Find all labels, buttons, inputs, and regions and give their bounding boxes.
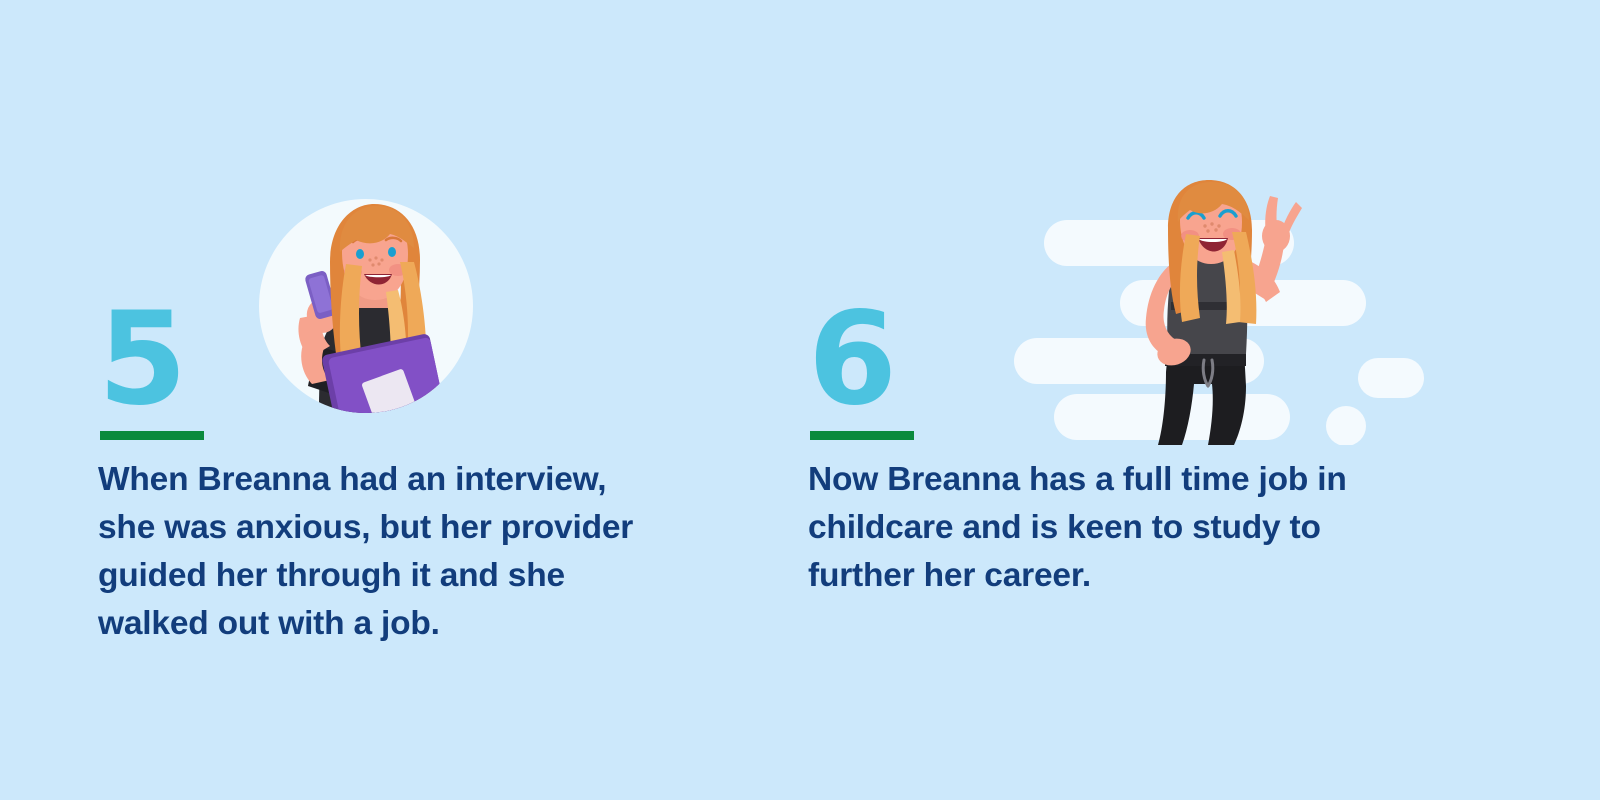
step-panel-5: 5 When Breanna had an interview, she was… bbox=[98, 0, 808, 800]
step-number-5: 5 bbox=[98, 296, 185, 424]
copy-line: further her career. bbox=[808, 552, 1448, 600]
copy-line: Now Breanna has a full time job in bbox=[808, 456, 1448, 504]
copy-line: guided her through it and she bbox=[98, 552, 738, 600]
step-panel-6: 6 Now Breanna has a full time job in chi… bbox=[808, 0, 1518, 800]
step-rule-6 bbox=[810, 431, 914, 440]
illustration-woman-peace-sign bbox=[1008, 180, 1428, 445]
copy-line: When Breanna had an interview, bbox=[98, 456, 738, 504]
infographic-canvas: 5 When Breanna had an interview, she was… bbox=[0, 0, 1600, 800]
copy-line: walked out with a job. bbox=[98, 600, 738, 648]
step-copy-5: When Breanna had an interview, she was a… bbox=[98, 456, 738, 648]
copy-line: she was anxious, but her provider bbox=[98, 504, 738, 552]
step-rule-5 bbox=[100, 431, 204, 440]
step-copy-6: Now Breanna has a full time job in child… bbox=[808, 456, 1448, 600]
copy-line: childcare and is keen to study to bbox=[808, 504, 1448, 552]
step-number-6: 6 bbox=[808, 296, 895, 424]
illustration-woman-on-phone bbox=[258, 196, 488, 446]
